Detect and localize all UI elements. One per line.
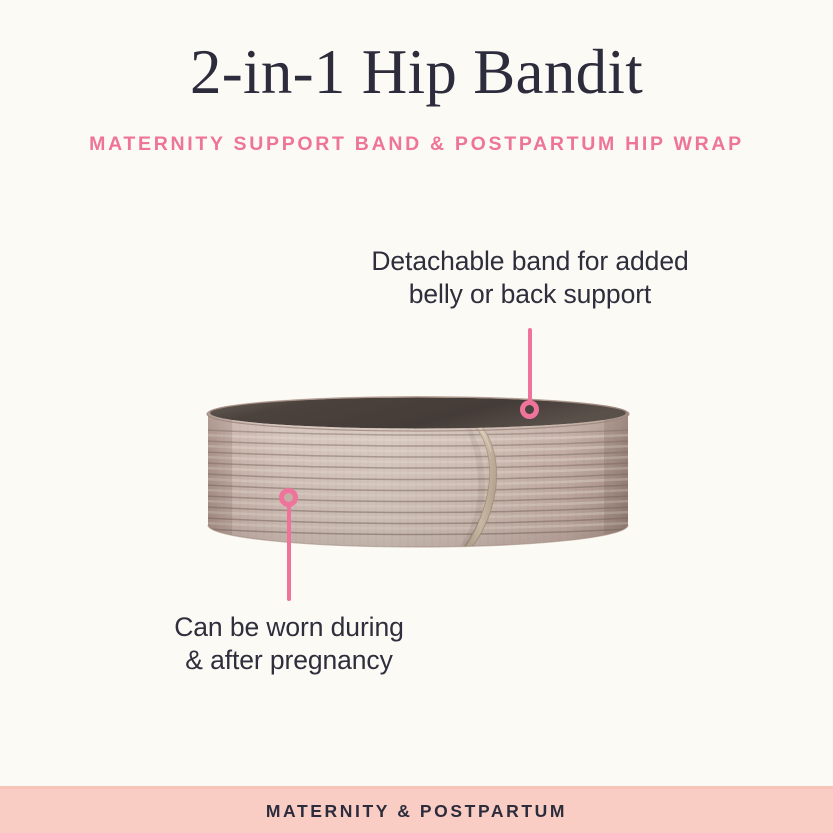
footer-banner: MATERNITY & POSTPARTUM: [0, 786, 833, 833]
footer-text: MATERNITY & POSTPARTUM: [266, 801, 567, 822]
product-feature-graphic: 2-in-1 Hip Bandit MATERNITY SUPPORT BAND…: [0, 0, 833, 833]
callout-wear-during-after-line2: & after pregnancy: [139, 644, 439, 677]
page-title: 2-in-1 Hip Bandit: [0, 38, 833, 106]
product-image: [206, 396, 630, 554]
callout-pin-ring-bottom: [279, 488, 298, 507]
callout-wear-during-after: Can be worn during & after pregnancy: [139, 611, 439, 677]
callout-detachable-band-line1: Detachable band for added: [330, 245, 730, 278]
callout-detachable-band: Detachable band for added belly or back …: [330, 245, 730, 311]
callout-detachable-band-line2: belly or back support: [330, 278, 730, 311]
callout-pin-line-bottom: [287, 498, 291, 601]
callout-pin-ring-top: [520, 400, 539, 419]
callout-wear-during-after-line1: Can be worn during: [139, 611, 439, 644]
callout-pin-line-top: [528, 328, 532, 410]
page-subtitle: MATERNITY SUPPORT BAND & POSTPARTUM HIP …: [0, 133, 833, 156]
